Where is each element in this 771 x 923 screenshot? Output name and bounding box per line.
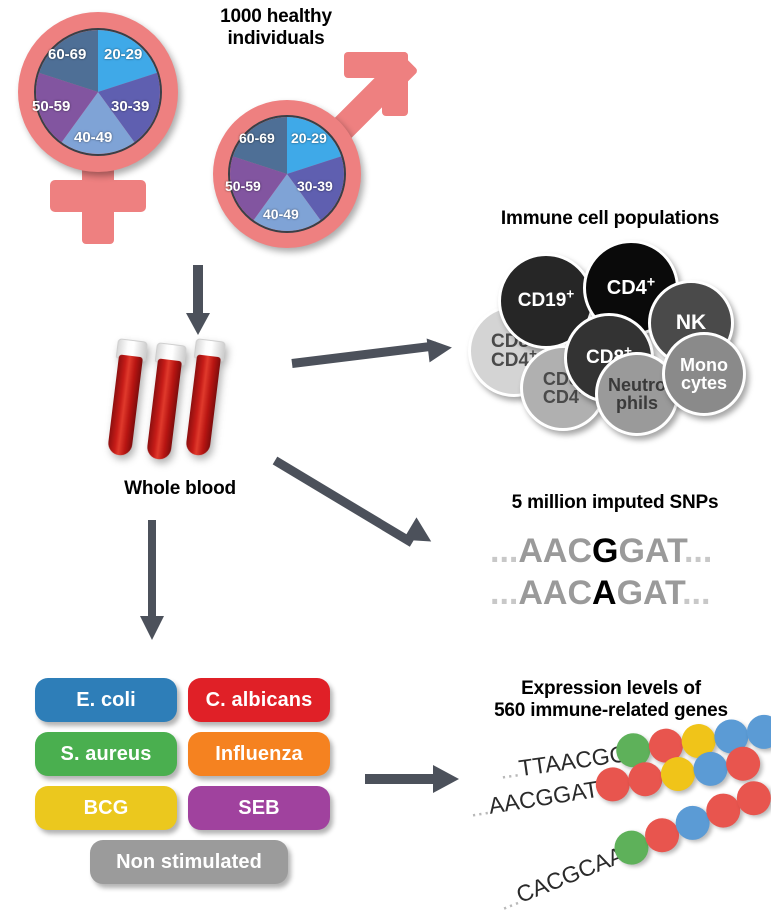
immune-cell-label: CD4+ — [607, 278, 655, 298]
immune-cell-monocytes: Monocytes — [662, 332, 746, 416]
immune-cell-label: CD19+ — [518, 291, 575, 310]
immune-cell-label: NK — [676, 312, 706, 333]
stimulus-e-coli[interactable]: E. coli — [35, 678, 177, 722]
figure-canvas: 1000 healthy individuals 20-29 30-39 40-… — [0, 0, 771, 922]
stimulus-label: SEB — [238, 797, 279, 820]
immune-cell-label: Neutrophils — [608, 376, 666, 413]
dna-bead — [658, 755, 697, 794]
dna-bases: CACGCAA — [513, 841, 628, 908]
snp-tail: ... — [684, 532, 712, 570]
stimuli-panel: E. coli C. albicans S. aureus Influenza … — [0, 0, 360, 922]
stimulus-influenza[interactable]: Influenza — [188, 732, 330, 776]
snp-tail: ... — [682, 574, 710, 612]
stimulus-seb[interactable]: SEB — [188, 786, 330, 830]
snp-prefix: AAC — [518, 574, 592, 612]
arrow-shaft — [365, 774, 437, 784]
arrow-head-icon — [433, 765, 459, 793]
arrow-stimuli-to-genes — [365, 762, 475, 796]
snp-sequence-row: ...AACGGAT... — [490, 532, 712, 571]
snp-variant-allele: A — [592, 574, 617, 612]
stimulus-label: S. aureus — [61, 743, 152, 766]
stimulus-label: C. albicans — [206, 689, 313, 712]
stimulus-c-albicans[interactable]: C. albicans — [188, 678, 330, 722]
immune-cell-label: Monocytes — [680, 356, 728, 393]
dna-bead — [626, 760, 665, 799]
stimulus-label: Non stimulated — [116, 851, 262, 874]
stimulus-non-stimulated[interactable]: Non stimulated — [90, 840, 288, 884]
dna-sequence-text: ...AACGGAT — [468, 776, 601, 823]
stimulus-bcg[interactable]: BCG — [35, 786, 177, 830]
snp-lead: ... — [490, 574, 518, 612]
expression-levels-title: Expression levels of 560 immune-related … — [455, 678, 767, 723]
snp-lead: ... — [490, 532, 518, 570]
expression-title-line2: 560 immune-related genes — [455, 700, 767, 722]
expression-title-line1: Expression levels of — [455, 678, 767, 700]
snp-variant-allele: G — [592, 532, 618, 570]
dna-bead — [691, 749, 730, 788]
dna-sequence-text: ...CACGCAA — [495, 841, 628, 916]
stimulus-label: Influenza — [215, 743, 303, 766]
snp-sequence-row: ...AACAGAT... — [490, 574, 710, 613]
stimulus-label: E. coli — [76, 689, 136, 712]
snp-prefix: AAC — [518, 532, 592, 570]
snp-title: 5 million imputed SNPs — [470, 492, 760, 514]
snp-suffix: GAT — [617, 574, 682, 612]
stimulus-s-aureus[interactable]: S. aureus — [35, 732, 177, 776]
stimulus-label: BCG — [84, 797, 129, 820]
arrow-head-icon — [403, 517, 438, 552]
snp-suffix: GAT — [618, 532, 683, 570]
